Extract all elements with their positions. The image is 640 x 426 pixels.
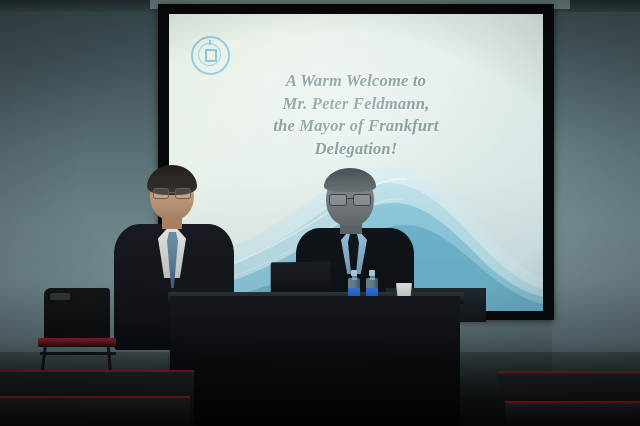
bottle-cap	[351, 270, 357, 276]
conference-chair-seat	[38, 338, 116, 347]
slide-title-line-3: the Mayor of Frankfurt	[169, 115, 543, 138]
slide-title-line-1: A Warm Welcome to	[169, 70, 543, 93]
speaker-glasses-icon	[329, 194, 371, 204]
podium	[170, 296, 460, 426]
seal-tick	[209, 40, 211, 45]
speaker-lens-left	[329, 194, 347, 206]
bench-right-lower	[505, 404, 640, 426]
conference-chair-back	[44, 288, 110, 340]
host-lens-right	[175, 188, 191, 199]
wall-right-section	[552, 0, 640, 426]
bench-left-lower	[0, 398, 190, 426]
slide-title-line-2: Mr. Peter Feldmann,	[169, 93, 543, 116]
chair-cross-rail	[40, 352, 116, 355]
bottle-cap	[369, 270, 375, 276]
conference-photo: A Warm Welcome to Mr. Peter Feldmann, th…	[0, 0, 640, 426]
host-lens-left	[153, 188, 169, 199]
speaker-lens-right	[353, 194, 371, 206]
speaker-hair	[324, 168, 376, 192]
host-glasses-icon	[153, 188, 191, 197]
